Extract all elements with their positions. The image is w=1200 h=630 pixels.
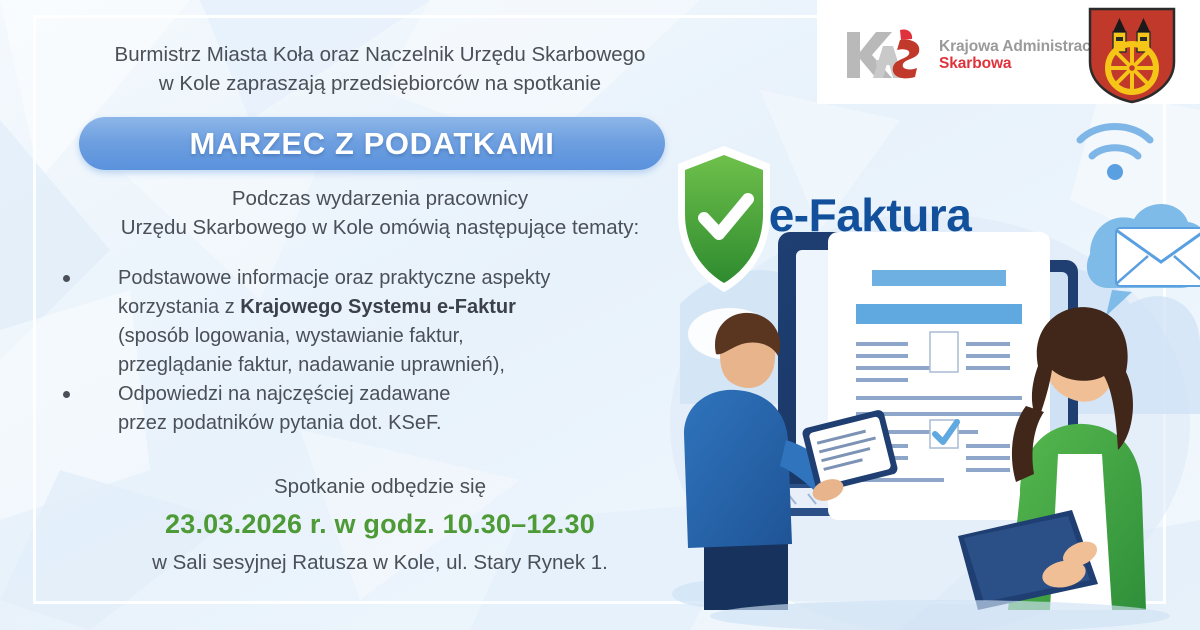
list-item: Odpowiedzi na najczęściej zadawane przez… [48, 380, 708, 438]
kas-logo-line1: Krajowa Administracja [939, 38, 1103, 55]
subintro-line-1: Podczas wydarzenia pracownicy [40, 184, 720, 213]
intro-line-1: Burmistrz Miasta Koła oraz Naczelnik Urz… [40, 40, 720, 69]
event-location: w Sali sesyjnej Ratusza w Kole, ul. Star… [40, 548, 720, 578]
event-datetime: 23.03.2026 r. w godz. 10.30–12.30 [40, 505, 720, 544]
bullet-1-line-2: korzystania z Krajowego Systemu e-Faktur [118, 293, 708, 322]
kas-logo: Krajowa Administracja Skarbowa [843, 24, 1093, 86]
bullet-1-line-3: (sposób logowania, wystawianie faktur, [118, 322, 708, 351]
subintro-line-2: Urzędu Skarbowego w Kole omówią następuj… [40, 213, 720, 242]
kas-logo-line2: Skarbowa [939, 55, 1103, 72]
list-item: Podstawowe informacje oraz praktyczne as… [48, 264, 708, 380]
intro-line-2: w Kole zapraszają przedsiębiorców na spo… [40, 69, 720, 98]
efaktura-title: e-Faktura [660, 188, 1080, 242]
event-title-banner: MARZEC Z PODATKAMI [79, 117, 665, 170]
closing-line-1: Spotkanie odbędzie się [40, 472, 720, 502]
efaktura-illustration [660, 104, 1200, 630]
wifi-dot-icon [1107, 164, 1123, 180]
kolo-coat-of-arms-icon [1086, 6, 1178, 104]
event-title-label: MARZEC Z PODATKAMI [190, 126, 555, 162]
kas-logo-mark-icon [843, 26, 929, 84]
wifi-icon [1080, 127, 1150, 157]
topics-list: Podstawowe informacje oraz praktyczne as… [48, 264, 708, 438]
bullet-1-line-1: Podstawowe informacje oraz praktyczne as… [118, 264, 708, 293]
bullet-1-line-2-bold: Krajowego Systemu e-Faktur [240, 296, 516, 318]
subintro-text: Podczas wydarzenia pracownicy Urzędu Ska… [40, 184, 720, 242]
poster-canvas: Krajowa Administracja Skarbowa Burmistrz… [0, 0, 1200, 630]
bullet-2-line-2: przez podatników pytania dot. KSeF. [118, 409, 708, 438]
bullet-2-line-1: Odpowiedzi na najczęściej zadawane [118, 380, 708, 409]
intro-text: Burmistrz Miasta Koła oraz Naczelnik Urz… [40, 40, 720, 98]
bullet-dot-icon [63, 391, 70, 398]
bullet-dot-icon [63, 275, 70, 282]
bullet-1-line-2-prefix: korzystania z [118, 296, 240, 318]
bullet-1-line-4: przeglądanie faktur, nadawanie uprawnień… [118, 351, 708, 380]
closing-text: Spotkanie odbędzie się 23.03.2026 r. w g… [40, 472, 720, 578]
